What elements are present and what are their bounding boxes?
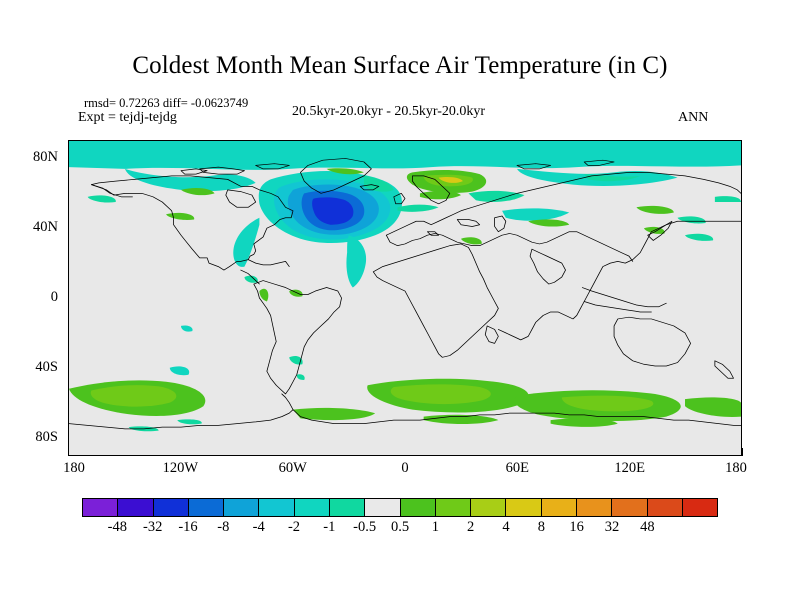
y-axis-label: 80N (0, 149, 58, 166)
colorbar-segment (223, 499, 258, 516)
colorbar-segment (611, 499, 646, 516)
colorbar-segment (188, 499, 223, 516)
map-plot-area (68, 140, 742, 456)
colorbar-tick-labels: -48-32-16-8-4-2-1-0.50.51248163248 (82, 519, 718, 541)
colorbar-tick-label: -8 (217, 519, 229, 536)
colorbar-tick-label: -1 (323, 519, 335, 536)
colorbar-segment (153, 499, 188, 516)
world-map (69, 141, 741, 455)
colorbar-tick-label: 0.5 (391, 519, 409, 536)
colorbar-tick-label: 32 (605, 519, 620, 536)
coastline-path (495, 216, 506, 232)
colorbar-tick-label: 8 (538, 519, 545, 536)
anomaly-region (502, 208, 569, 220)
y-axis-label: 80S (0, 429, 58, 446)
anomaly-region (88, 195, 116, 202)
colorbar-segment (541, 499, 576, 516)
anomaly-region (125, 169, 256, 191)
period-annotation: 20.5kyr-20.0kyr - 20.5kyr-20.0kyr (292, 104, 485, 120)
anomaly-region (297, 374, 305, 380)
coastline-path (614, 317, 691, 366)
anomaly-region (685, 234, 713, 241)
colorbar-segment (647, 499, 682, 516)
colorbar-segment (364, 499, 399, 516)
anomaly-region (715, 196, 741, 202)
coastline-path (181, 169, 207, 174)
colorbar-tick-label: -48 (108, 519, 127, 536)
anomaly-region (181, 325, 193, 331)
anomaly-region (528, 219, 569, 226)
anomaly-region (346, 235, 366, 287)
anomaly-region (289, 290, 302, 297)
x-axis-label: 0 (401, 460, 408, 477)
anomaly-region (424, 415, 499, 424)
anomaly-region (69, 141, 741, 170)
colorbar-tick-label: -16 (178, 519, 197, 536)
y-axis-label: 0 (0, 289, 58, 306)
x-axis-label: 120E (614, 460, 645, 477)
coastline-path (584, 301, 651, 311)
colorbar-segment (83, 499, 117, 516)
coastline-path (457, 220, 479, 227)
anomaly-region (685, 397, 741, 417)
y-axis-label: 40S (0, 359, 58, 376)
colorbar-segment (400, 499, 435, 516)
coastline-path (582, 288, 666, 307)
colorbar-segment (258, 499, 293, 516)
coastline-path (485, 326, 498, 343)
y-axis-label: 40N (0, 219, 58, 236)
coastline-path (226, 190, 256, 207)
colorbar-segment (117, 499, 152, 516)
x-axis-tick (742, 448, 743, 456)
x-axis-label: 180 (725, 460, 747, 477)
colorbar-segment (505, 499, 540, 516)
colorbar-tick-label: -32 (143, 519, 162, 536)
coastline-path (715, 361, 734, 378)
colorbar-tick-label: 4 (502, 519, 509, 536)
x-axis-label: 60E (506, 460, 529, 477)
anomaly-region (636, 206, 673, 214)
colorbar-tick-label: 2 (467, 519, 474, 536)
colorbar-segment (329, 499, 364, 516)
anomaly-region (166, 213, 194, 220)
coastline-path (248, 260, 289, 267)
colorbar-tick-label: 48 (640, 519, 655, 536)
anomaly-region (461, 237, 482, 244)
colorbar-segment (576, 499, 611, 516)
colorbar-tick-label: -2 (288, 519, 300, 536)
coastline-path (91, 185, 132, 197)
anomaly-region (398, 205, 439, 212)
colorbar-tick-label: -4 (253, 519, 265, 536)
figure-canvas: Coldest Month Mean Surface Air Temperatu… (0, 0, 800, 600)
coastline-path (282, 394, 293, 410)
colorbar-segment (682, 499, 717, 516)
coastline-path (386, 232, 632, 262)
colorbar-tick-label: 1 (432, 519, 439, 536)
x-axis-label: 60W (279, 460, 307, 477)
statistics-annotation: rmsd= 0.72263 diff= -0.0623749 (84, 96, 248, 111)
coastline-path (530, 249, 565, 284)
x-axis-label: 180 (63, 460, 85, 477)
experiment-annotation: Expt = tejdj-tejdg (78, 110, 177, 126)
colorbar-segment (435, 499, 470, 516)
colorbar-segment (470, 499, 505, 516)
colorbar-tick-label: 16 (569, 519, 584, 536)
season-label: ANN (678, 110, 708, 126)
colorbar (82, 498, 718, 517)
anomaly-region (678, 216, 706, 223)
coastline-path (373, 244, 498, 357)
page-title: Coldest Month Mean Surface Air Temperatu… (0, 52, 800, 80)
anomaly-region (170, 366, 189, 375)
colorbar-segment (294, 499, 329, 516)
anomaly-field (69, 141, 741, 431)
anomaly-region (468, 191, 524, 202)
anomaly-region (177, 419, 201, 424)
colorbar-tick-label: -0.5 (353, 519, 376, 536)
x-axis-label: 120W (163, 460, 198, 477)
